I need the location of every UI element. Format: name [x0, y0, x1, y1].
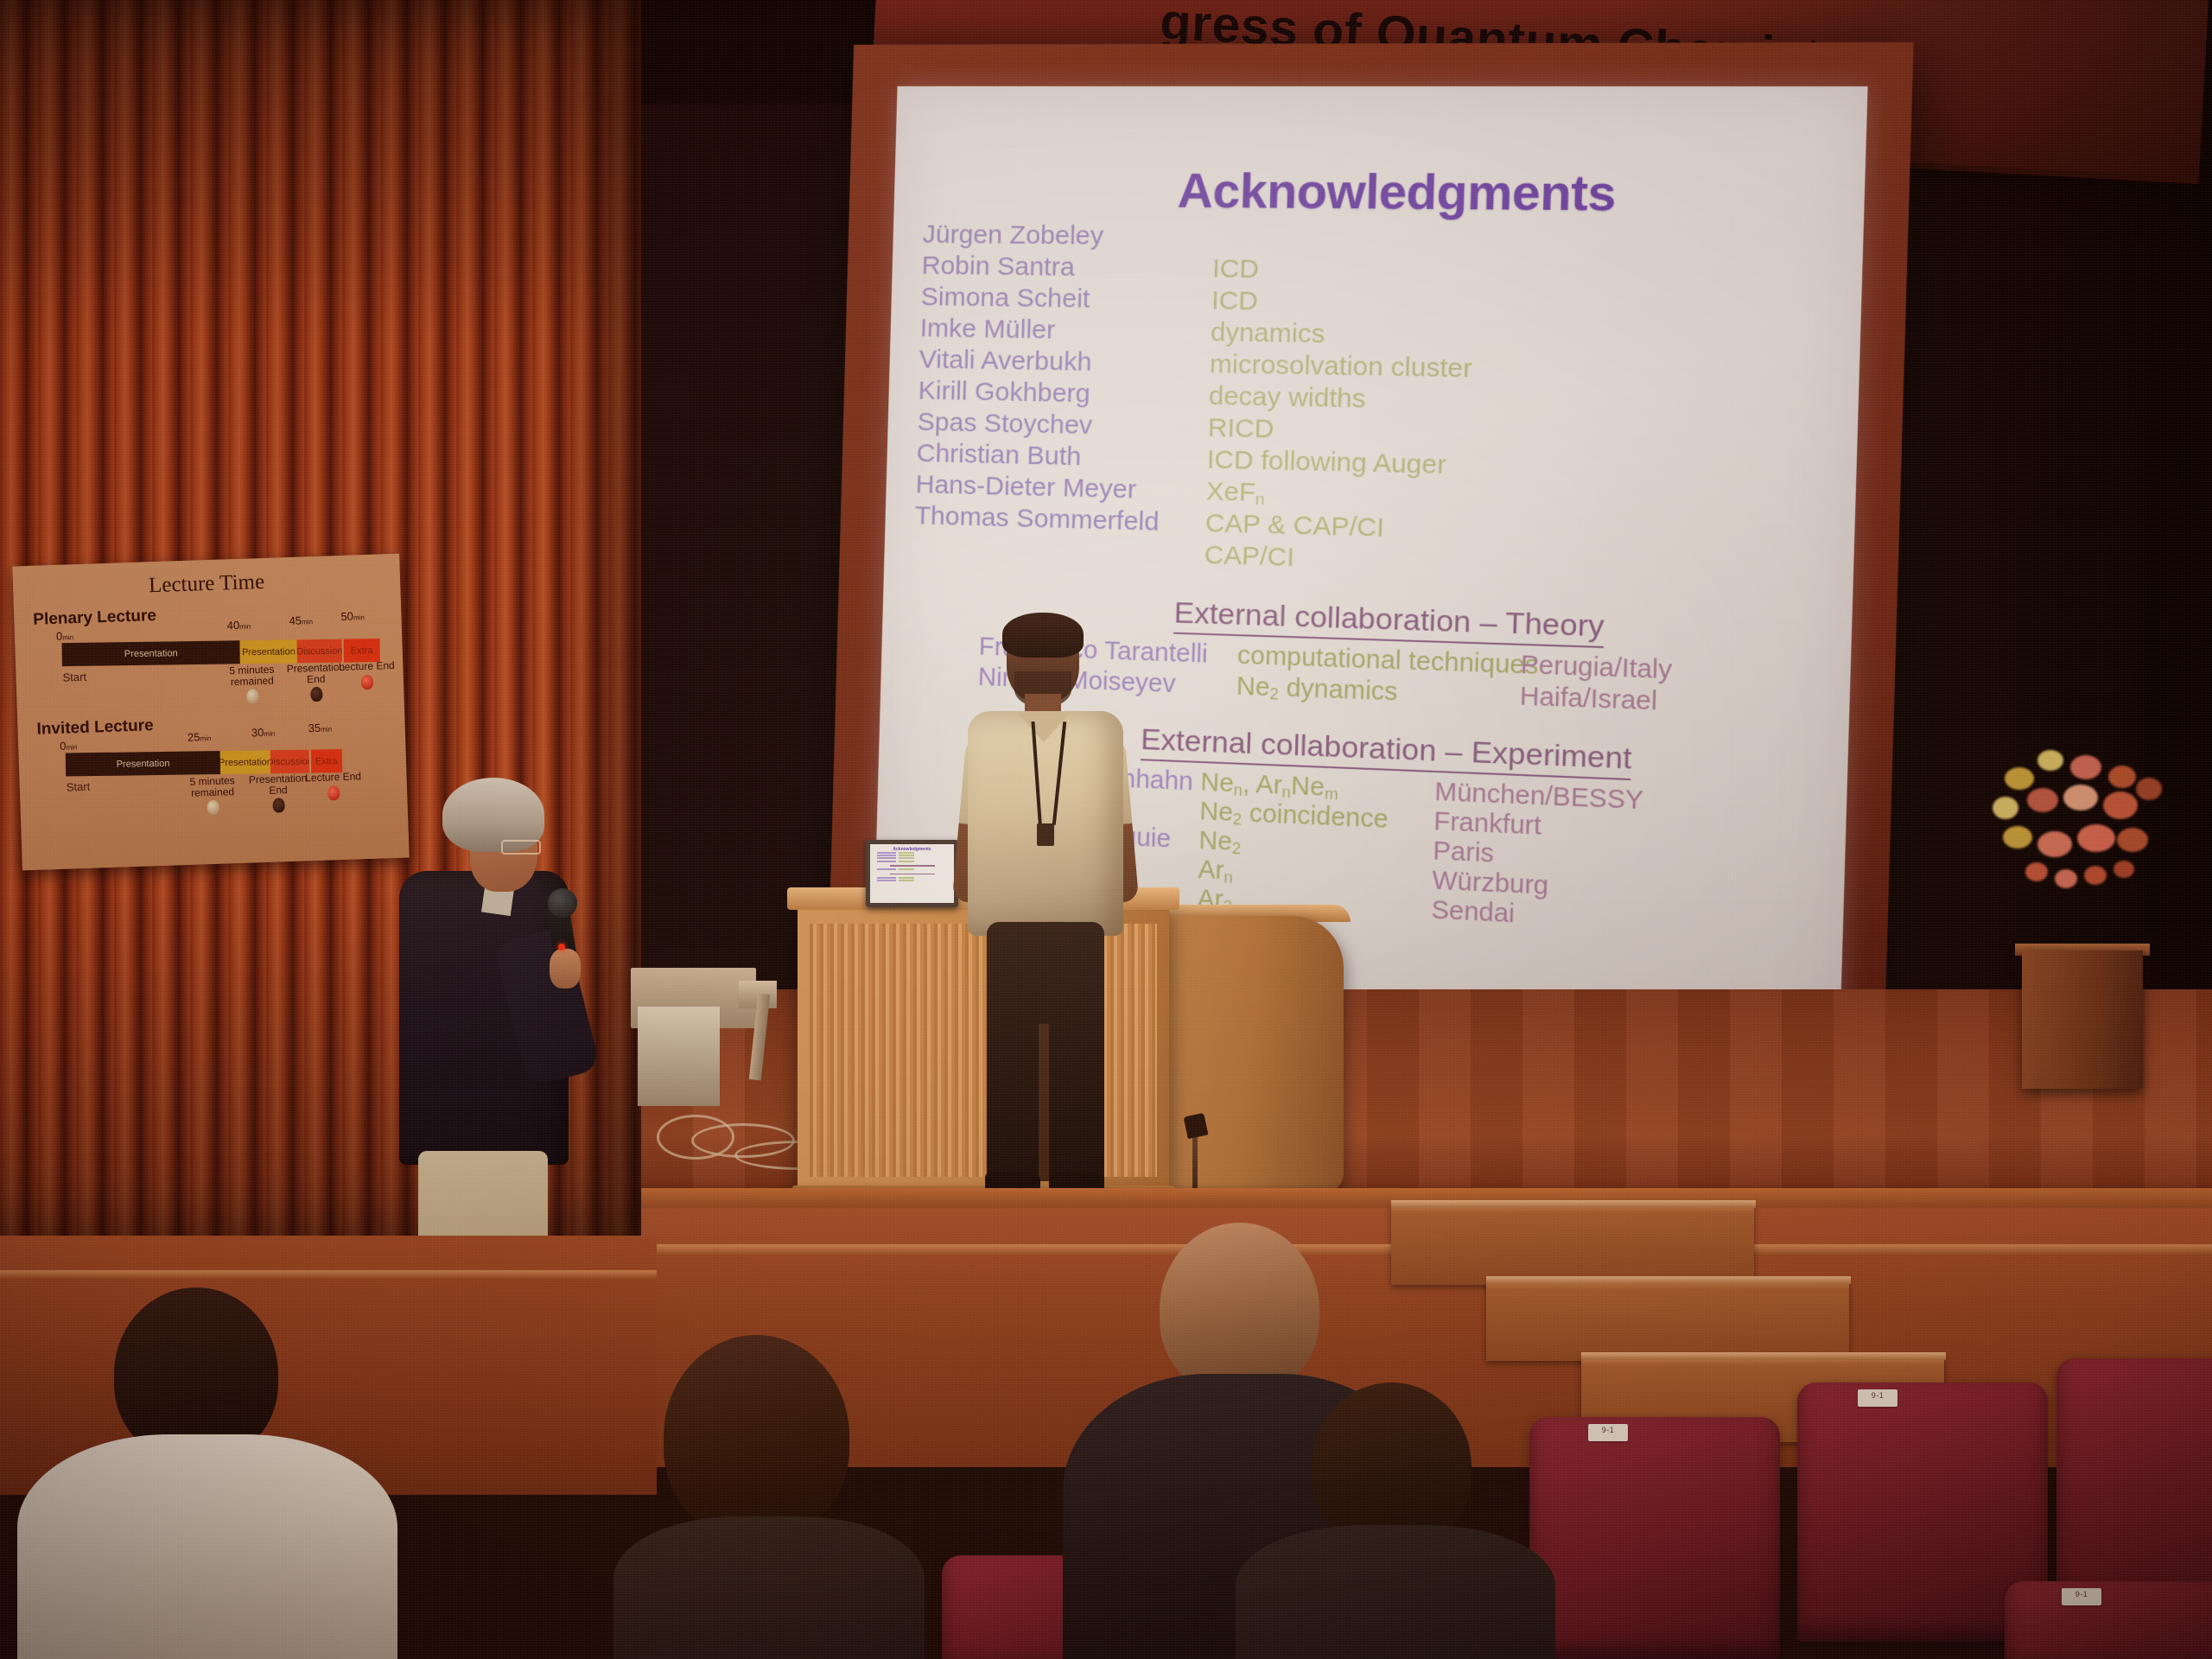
- collab-place: Perugia/Italy: [1520, 651, 1672, 685]
- ack-topic: decay widths: [1209, 384, 1366, 413]
- tick-value: 25: [188, 730, 200, 743]
- step-2: [1486, 1280, 1849, 1361]
- ack-name: Robin Santra: [921, 253, 1212, 283]
- ack-topic: XeFn: [1205, 479, 1265, 508]
- segment-presentation2: Presentation: [240, 639, 298, 664]
- plenary-timeline: 0min 40min 45min 50min Presentation Pres…: [30, 620, 389, 712]
- seat-number-plate: 9-1: [1588, 1424, 1628, 1441]
- ack-name: Hans-Dieter Meyer: [915, 472, 1206, 505]
- segment-discussion: Discussion: [297, 639, 342, 664]
- tick-value: 30: [251, 726, 264, 739]
- floor-microphone-head: [1184, 1113, 1209, 1139]
- tick-unit: min: [353, 613, 365, 621]
- av-equipment-box: [638, 1007, 720, 1106]
- collab-place: Paris: [1433, 837, 1495, 869]
- ack-name: Jürgen Zobeley: [922, 222, 1213, 251]
- ack-topic: ICD: [1212, 256, 1260, 283]
- step-2-nosing: [1486, 1276, 1851, 1284]
- ack-topic: ICD: [1211, 288, 1259, 315]
- presenter-person: [959, 618, 1132, 1214]
- step-1-nosing: [1581, 1352, 1946, 1360]
- segment-presentation: Presentation: [62, 640, 240, 666]
- segment-extra: Extra: [308, 749, 342, 773]
- audience-member-front-center: [639, 1335, 899, 1659]
- plenary-notes: 5 minutes remained Presentation End Lect…: [31, 660, 388, 712]
- audience-shoulders: [17, 1434, 397, 1659]
- floor-cable: [657, 1115, 734, 1160]
- acknowledgments-list: Jürgen Zobeley Robin Santra ICD Simona S…: [913, 222, 1848, 593]
- segment-extra: Extra: [341, 639, 380, 663]
- presenter-badge: [1037, 823, 1054, 846]
- yellow-lamp-icon: [246, 689, 259, 703]
- floral-arrangement: [1987, 743, 2186, 959]
- tick-value: 50: [340, 609, 353, 622]
- segment-presentation: Presentation: [66, 751, 221, 776]
- tick-unit: min: [66, 743, 77, 751]
- conference-hall-photo: gress of Quantum Chemistry May 21-26, 20…: [0, 0, 2212, 1659]
- collab-place: Sendai: [1431, 896, 1516, 930]
- eyeglasses-icon: [501, 840, 541, 855]
- segment-presentation2: Presentation: [220, 750, 270, 774]
- tick-unit: min: [264, 730, 275, 738]
- ack-name: Imke Müller: [919, 315, 1211, 346]
- red-lamp-icon: [361, 674, 374, 689]
- audience-shoulders: [613, 1516, 925, 1659]
- tick-unit: min: [239, 622, 251, 630]
- seat-number-plate: 9-1: [2062, 1588, 2101, 1605]
- yellow-lamp-icon: [207, 800, 219, 815]
- stage-left-band: [0, 1270, 657, 1279]
- ack-name: Vitali Averbukh: [918, 346, 1210, 378]
- laptop-screen: Acknowledgments: [870, 844, 954, 903]
- tick-unit: min: [62, 633, 73, 641]
- ack-topic: CAP/CI: [1204, 543, 1294, 572]
- ack-topic: ICD following Auger: [1206, 447, 1446, 479]
- tick-unit: min: [321, 725, 332, 733]
- chair-hand: [550, 949, 581, 988]
- auditorium-seat[interactable]: [2005, 1581, 2212, 1659]
- ack-topic: microsolvation cluster: [1210, 352, 1473, 383]
- presenter-leg-gap: [1039, 1024, 1049, 1181]
- ack-topic: CAP & CAP/CI: [1205, 511, 1384, 542]
- poster-title: Lecture Time: [25, 566, 389, 602]
- dark-lamp-icon: [310, 687, 323, 702]
- lecture-time-poster: Lecture Time Plenary Lecture 0min 40min …: [12, 554, 409, 871]
- tick-value: 45: [289, 613, 302, 626]
- note-5min: 5 minutes remained: [214, 664, 289, 705]
- invited-timeline: 0min 25min 30min 35min Presentation Pres…: [34, 730, 392, 822]
- seat-number-plate: 9-1: [1858, 1389, 1897, 1407]
- flower-pedestal: [2022, 950, 2143, 1089]
- audience-head: [664, 1335, 849, 1538]
- audience-member-front-left: [69, 1287, 346, 1659]
- tick-unit: min: [302, 618, 313, 626]
- ack-topic: dynamics: [1211, 320, 1325, 348]
- note-presentation-end: Presentation End: [244, 772, 312, 814]
- microphone-led-indicator: [558, 944, 565, 950]
- slide-title: Acknowledgments: [969, 162, 1843, 225]
- tick-value: 35: [308, 721, 321, 734]
- audience-shoulders: [1236, 1525, 1555, 1659]
- note-lecture-end: Lecture End: [338, 660, 396, 690]
- auditorium-seat[interactable]: [1529, 1417, 1780, 1659]
- ack-name: Simona Scheit: [920, 284, 1211, 315]
- collab-place: Haifa/Israel: [1519, 683, 1657, 717]
- tick-unit: min: [200, 734, 211, 742]
- ack-name: Christian Buth: [916, 441, 1207, 474]
- red-lamp-icon: [327, 785, 340, 800]
- audience-member-front-right: [1270, 1382, 1512, 1659]
- note-5min: 5 minutes remained: [175, 775, 250, 817]
- tick-value: 40: [226, 619, 239, 632]
- step-3: [1391, 1204, 1754, 1285]
- presenter-hair: [1002, 613, 1084, 658]
- ack-name: Spas Stoychev: [917, 410, 1208, 442]
- audience-head: [1160, 1223, 1319, 1395]
- presenter-laptop[interactable]: Acknowledgments: [866, 840, 958, 907]
- note-lecture-end: Lecture End: [304, 771, 362, 801]
- segment-discussion: Discussion: [270, 750, 309, 774]
- dark-lamp-icon: [272, 798, 285, 812]
- ack-name: Kirill Gokhberg: [918, 378, 1209, 410]
- step-3-nosing: [1391, 1200, 1756, 1208]
- invited-notes: 5 minutes remained Presentation End Lect…: [35, 770, 392, 822]
- ack-topic: RICD: [1207, 415, 1274, 442]
- collab-place: Frankfurt: [1433, 807, 1541, 842]
